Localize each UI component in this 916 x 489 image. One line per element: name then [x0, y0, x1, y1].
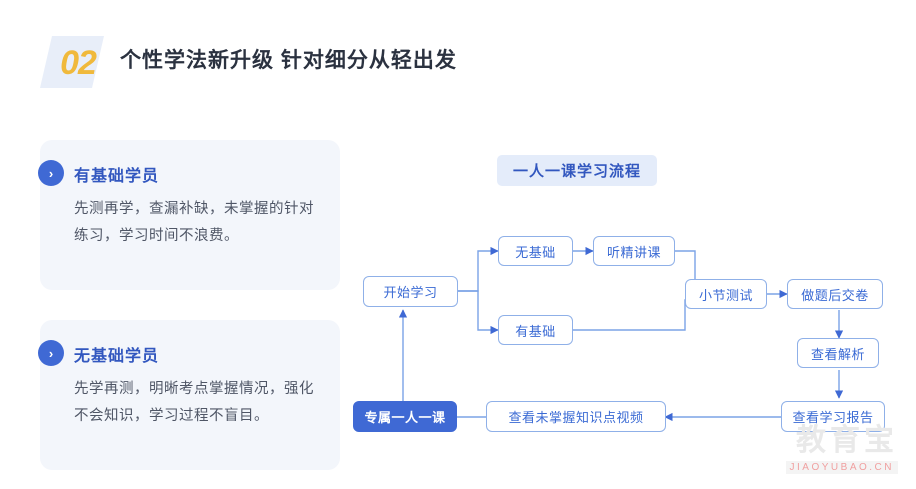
panel-body-text: 先学再测，明晰考点掌握情况，强化不会知识，学习过程不盲目。 — [74, 376, 314, 430]
flow-node-start[interactable]: 开始学习 — [363, 276, 458, 307]
panel-heading: 有基础学员 — [74, 162, 159, 186]
flow-node-no-base[interactable]: 无基础 — [498, 236, 573, 266]
flow-node-exclusive[interactable]: 专属一人一课 — [353, 401, 457, 432]
watermark-brand: 教育宝 — [786, 425, 898, 457]
flow-node-submit[interactable]: 做题后交卷 — [787, 279, 883, 309]
page-title: 个性学法新升级 针对细分从轻出发 — [120, 44, 457, 74]
flow-node-lecture[interactable]: 听精讲课 — [593, 236, 675, 266]
section-header: 02 个性学法新升级 针对细分从轻出发 — [40, 36, 600, 92]
info-panel-has-foundation: › 有基础学员 先测再学，查漏补缺，未掌握的针对练习，学习时间不浪费。 — [40, 140, 340, 290]
watermark-domain: JIAOYUBAO.CN — [786, 461, 898, 474]
chevron-right-icon: › — [38, 160, 64, 186]
panel-body-text: 先测再学，查漏补缺，未掌握的针对练习，学习时间不浪费。 — [74, 196, 314, 250]
watermark: 教育宝 JIAOYUBAO.CN — [786, 425, 898, 475]
flow-node-has-base[interactable]: 有基础 — [498, 315, 573, 345]
chevron-right-icon: › — [38, 340, 64, 366]
flow-node-quiz[interactable]: 小节测试 — [685, 279, 767, 309]
flow-node-video[interactable]: 查看未掌握知识点视频 — [486, 401, 666, 432]
info-panel-no-foundation: › 无基础学员 先学再测，明晰考点掌握情况，强化不会知识，学习过程不盲目。 — [40, 320, 340, 470]
flow-node-analysis[interactable]: 查看解析 — [797, 338, 879, 368]
flow-chart: 一人一课学习流程 — [345, 130, 905, 470]
panel-heading: 无基础学员 — [74, 342, 159, 366]
header-section-number: 02 — [50, 40, 106, 86]
